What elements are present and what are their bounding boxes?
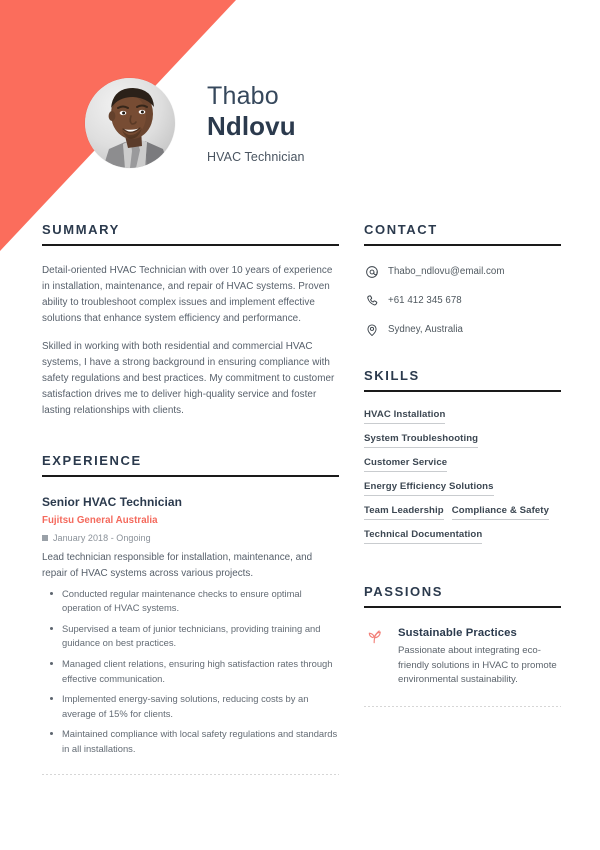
resume-header: Thabo Ndlovu HVAC Technician xyxy=(0,0,600,205)
experience-bullet-list: Conducted regular maintenance checks to … xyxy=(42,587,339,757)
last-name: Ndlovu xyxy=(207,111,537,142)
section-divider xyxy=(42,774,339,775)
experience-date: January 2018 - Ongoing xyxy=(53,533,151,543)
calendar-icon xyxy=(42,535,48,541)
email-icon xyxy=(364,264,379,279)
avatar xyxy=(85,78,175,168)
resume-page: Thabo Ndlovu HVAC Technician SUMMARY Det… xyxy=(0,0,600,850)
list-item: Maintained compliance with local safety … xyxy=(42,727,339,756)
skill-tag: System Troubleshooting xyxy=(364,433,478,448)
right-column: CONTACT Thabo_ndlovu@email.com xyxy=(364,222,561,707)
job-title: HVAC Technician xyxy=(207,150,537,164)
spacer xyxy=(364,337,561,368)
contact-value: Thabo_ndlovu@email.com xyxy=(388,266,504,277)
section-skills: SKILLS HVAC Installation System Troubles… xyxy=(364,368,561,553)
name-block: Thabo Ndlovu HVAC Technician xyxy=(207,82,537,164)
passion-item: Sustainable Practices Passionate about i… xyxy=(364,627,561,688)
section-title-experience: EXPERIENCE xyxy=(42,453,339,468)
contact-list: Thabo_ndlovu@email.com +61 412 345 678 xyxy=(364,264,561,337)
spacer xyxy=(364,553,561,584)
experience-role: Senior HVAC Technician xyxy=(42,495,339,509)
experience-entry: Senior HVAC Technician Fujitsu General A… xyxy=(42,495,339,756)
experience-date-row: January 2018 - Ongoing xyxy=(42,533,339,543)
section-rule xyxy=(364,244,561,246)
summary-paragraph: Skilled in working with both residential… xyxy=(42,339,339,419)
experience-description: Lead technician responsible for installa… xyxy=(42,550,339,581)
section-experience: EXPERIENCE Senior HVAC Technician Fujits… xyxy=(42,453,339,775)
section-title-summary: SUMMARY xyxy=(42,222,339,237)
contact-value: Sydney, Australia xyxy=(388,324,463,335)
section-rule xyxy=(364,390,561,392)
contact-item-email[interactable]: Thabo_ndlovu@email.com xyxy=(364,264,561,279)
skill-tag: Technical Documentation xyxy=(364,529,482,544)
contact-item-phone[interactable]: +61 412 345 678 xyxy=(364,293,561,308)
skill-tag: Team Leadership xyxy=(364,505,444,520)
section-rule xyxy=(42,244,339,246)
passion-title: Sustainable Practices xyxy=(398,627,561,639)
first-name: Thabo xyxy=(207,82,537,112)
left-column: SUMMARY Detail-oriented HVAC Technician … xyxy=(42,222,339,775)
section-title-passions: PASSIONS xyxy=(364,584,561,599)
skill-tag: HVAC Installation xyxy=(364,409,445,424)
summary-body: Detail-oriented HVAC Technician with ove… xyxy=(42,263,339,419)
section-title-skills: SKILLS xyxy=(364,368,561,383)
section-divider xyxy=(364,706,561,707)
section-title-contact: CONTACT xyxy=(364,222,561,237)
skill-tag: Customer Service xyxy=(364,457,447,472)
list-item: Implemented energy-saving solutions, red… xyxy=(42,692,339,721)
section-passions: PASSIONS Sustainable Practices Passionat… xyxy=(364,584,561,707)
contact-item-location[interactable]: Sydney, Australia xyxy=(364,322,561,337)
list-item: Supervised a team of junior technicians,… xyxy=(42,622,339,651)
location-pin-icon xyxy=(364,322,379,337)
passion-body: Sustainable Practices Passionate about i… xyxy=(398,627,561,688)
list-item: Conducted regular maintenance checks to … xyxy=(42,587,339,616)
section-summary: SUMMARY Detail-oriented HVAC Technician … xyxy=(42,222,339,419)
summary-paragraph: Detail-oriented HVAC Technician with ove… xyxy=(42,263,339,327)
experience-company: Fujitsu General Australia xyxy=(42,515,339,526)
section-rule xyxy=(42,475,339,477)
section-rule xyxy=(364,606,561,608)
spacer xyxy=(42,419,339,453)
leaf-sprout-icon xyxy=(364,625,386,647)
phone-icon xyxy=(364,293,379,308)
skill-tag: Compliance & Safety xyxy=(452,505,549,520)
section-contact: CONTACT Thabo_ndlovu@email.com xyxy=(364,222,561,337)
skill-tag: Energy Efficiency Solutions xyxy=(364,481,494,496)
list-item: Managed client relations, ensuring high … xyxy=(42,657,339,686)
contact-value: +61 412 345 678 xyxy=(388,295,462,306)
passion-description: Passionate about integrating eco-friendl… xyxy=(398,644,561,688)
skills-list: HVAC Installation System Troubleshooting… xyxy=(364,409,561,553)
